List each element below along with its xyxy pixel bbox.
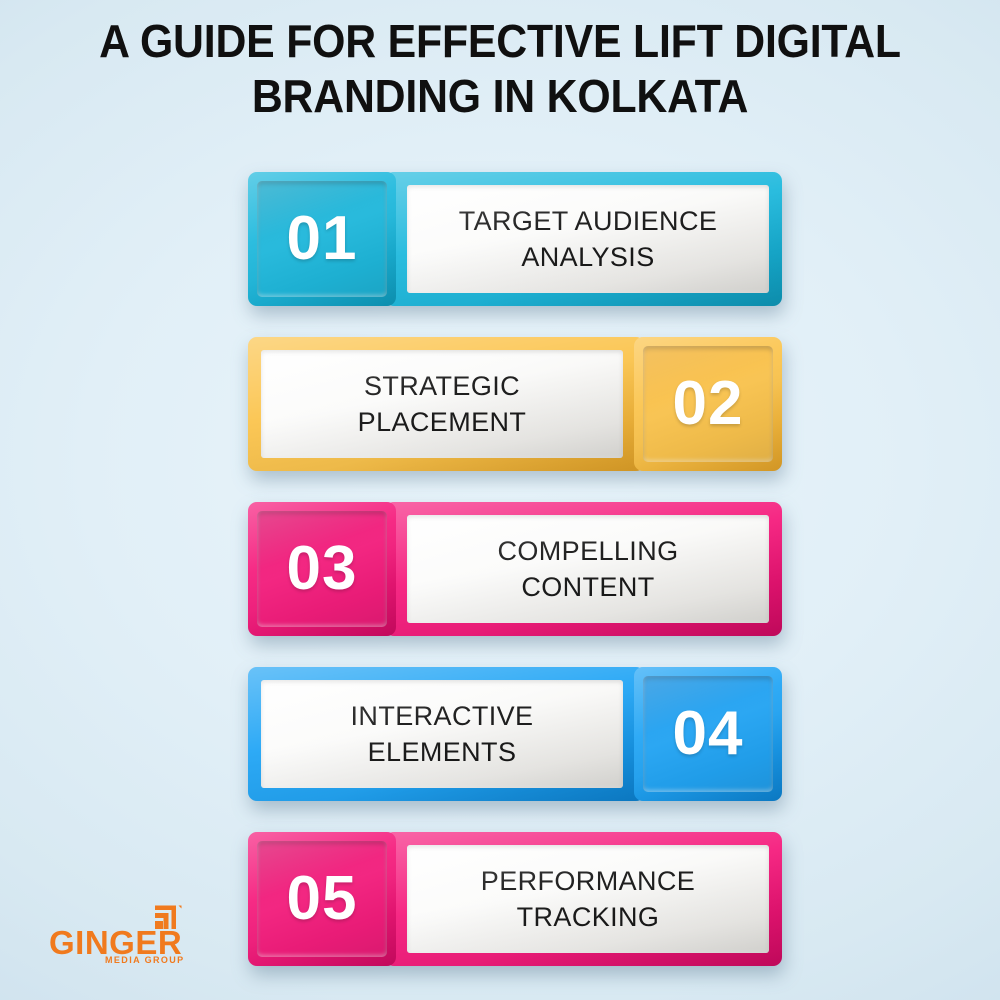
page-title-line-2: BRANDING IN KOLKATA xyxy=(35,69,965,124)
step-label-line-1: PERFORMANCE xyxy=(481,866,695,896)
step-number-text: 02 xyxy=(673,373,744,435)
step-number-text: 04 xyxy=(673,703,744,765)
step-label-line-1: TARGET AUDIENCE xyxy=(459,206,718,236)
step-label-line-1: COMPELLING xyxy=(497,536,678,566)
infographic-page: A GUIDE FOR EFFECTIVE LIFT DIGITAL BRAND… xyxy=(0,0,1000,1000)
step-label-line-2: ELEMENTS xyxy=(351,734,534,770)
step-label-frame: COMPELLINGCONTENT xyxy=(385,502,782,636)
step-label-panel: COMPELLINGCONTENT xyxy=(407,515,769,623)
step-card: 04INTERACTIVEELEMENTS xyxy=(248,667,782,801)
step-label-frame: TARGET AUDIENCEANALYSIS xyxy=(385,172,782,306)
step-label-panel: TARGET AUDIENCEANALYSIS xyxy=(407,185,769,293)
step-number-text: 03 xyxy=(287,538,358,600)
step-number-text: 05 xyxy=(287,868,358,930)
step-label-panel: STRATEGICPLACEMENT xyxy=(261,350,623,458)
step-label-line-2: ANALYSIS xyxy=(459,239,718,275)
logo-tagline: MEDIA GROUP xyxy=(105,956,185,965)
step-label-frame: STRATEGICPLACEMENT xyxy=(248,337,645,471)
brand-logo: GINGER MEDIA GROUP xyxy=(49,904,209,966)
step-label-line-2: TRACKING xyxy=(481,899,695,935)
step-label-text: TARGET AUDIENCEANALYSIS xyxy=(459,203,718,275)
step-label-text: PERFORMANCETRACKING xyxy=(481,863,695,935)
step-label-text: STRATEGICPLACEMENT xyxy=(358,368,527,440)
steps-list: 01TARGET AUDIENCEANALYSIS02STRATEGICPLAC… xyxy=(248,172,782,997)
step-label-line-2: CONTENT xyxy=(497,569,678,605)
step-number-box: 02 xyxy=(634,337,782,471)
step-number-box: 03 xyxy=(248,502,396,636)
step-card: 01TARGET AUDIENCEANALYSIS xyxy=(248,172,782,306)
page-title-line-1: A GUIDE FOR EFFECTIVE LIFT DIGITAL xyxy=(35,14,965,69)
step-card: 03COMPELLINGCONTENT xyxy=(248,502,782,636)
step-card: 02STRATEGICPLACEMENT xyxy=(248,337,782,471)
step-label-panel: INTERACTIVEELEMENTS xyxy=(261,680,623,788)
step-label-text: INTERACTIVEELEMENTS xyxy=(351,698,534,770)
step-label-text: COMPELLINGCONTENT xyxy=(497,533,678,605)
step-number-box: 04 xyxy=(634,667,782,801)
nested-squares-mark-icon xyxy=(152,904,182,932)
step-number-box: 05 xyxy=(248,832,396,966)
step-number-box: 01 xyxy=(248,172,396,306)
step-label-line-1: INTERACTIVE xyxy=(351,701,534,731)
step-card: 05PERFORMANCETRACKING xyxy=(248,832,782,966)
page-title: A GUIDE FOR EFFECTIVE LIFT DIGITAL BRAND… xyxy=(0,14,1000,124)
step-label-panel: PERFORMANCETRACKING xyxy=(407,845,769,953)
step-label-frame: INTERACTIVEELEMENTS xyxy=(248,667,645,801)
step-label-line-2: PLACEMENT xyxy=(358,404,527,440)
step-label-frame: PERFORMANCETRACKING xyxy=(385,832,782,966)
step-label-line-1: STRATEGIC xyxy=(364,371,520,401)
step-number-text: 01 xyxy=(287,208,358,270)
